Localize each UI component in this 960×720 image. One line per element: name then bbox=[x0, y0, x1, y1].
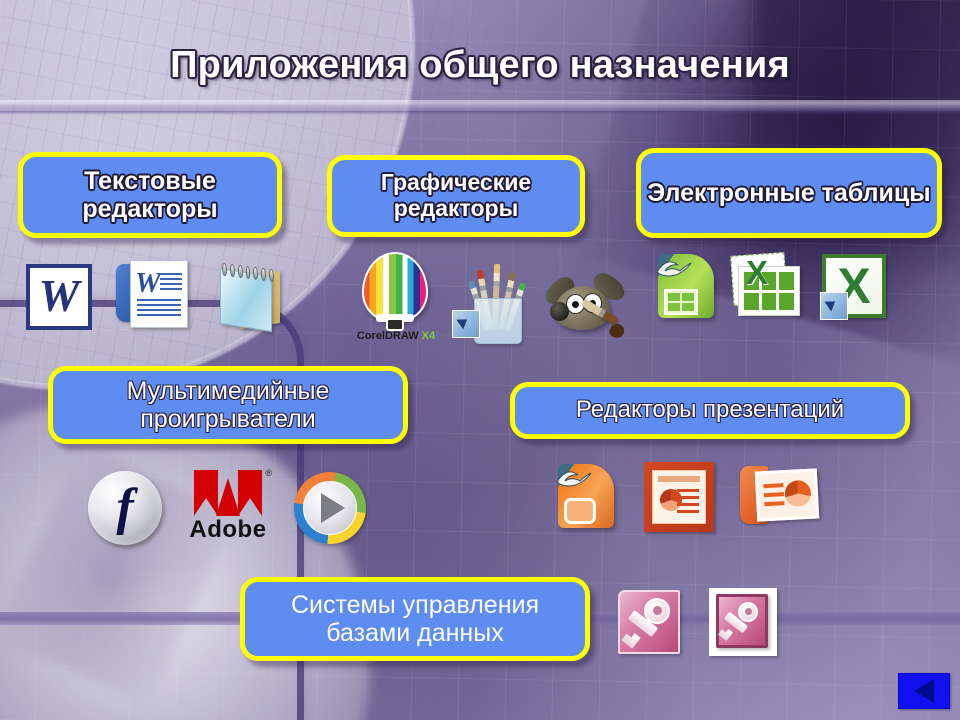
wilber-nose bbox=[550, 302, 569, 321]
shortcut-arrow-overlay-icon bbox=[820, 292, 848, 320]
divider-line-top bbox=[0, 100, 960, 111]
wilber-paintbrush-tip bbox=[607, 321, 626, 340]
flash-player-icon[interactable]: f bbox=[88, 471, 162, 545]
flash-letter-f: f bbox=[88, 471, 162, 549]
adobe-wordmark: Adobe bbox=[178, 516, 278, 544]
category-label-text: Текстовые редакторы bbox=[23, 167, 277, 223]
ppt-classic-title-bar bbox=[658, 476, 700, 482]
openoffice-calc-icon[interactable] bbox=[652, 252, 718, 322]
microsoft-word-2007-document-icon[interactable]: W bbox=[116, 258, 190, 330]
triangle-left-icon bbox=[914, 679, 934, 703]
category-label-text: Графические редакторы bbox=[332, 170, 580, 222]
excel-doc-x-letter: X bbox=[746, 256, 780, 290]
presentation-slide: Приложения общего назначения Текстовые р… bbox=[0, 0, 960, 720]
ppt-classic-bullets bbox=[677, 489, 699, 517]
word-doc-letter: W bbox=[135, 269, 161, 298]
microsoft-access-framed-key-icon[interactable] bbox=[708, 588, 780, 660]
icon-row-text-editors: W W bbox=[26, 258, 286, 330]
icon-row-media-players: f ® Adobe bbox=[88, 468, 366, 548]
access-key-hole bbox=[653, 606, 662, 615]
notepad-notebook-icon[interactable] bbox=[214, 268, 286, 330]
category-label-spreadsheets[interactable]: Электронные таблицы bbox=[636, 148, 942, 238]
coreldraw-caption: CorelDRAW X4 bbox=[348, 330, 444, 342]
word-doc-lines-top bbox=[160, 273, 182, 293]
microsoft-word-classic-icon[interactable]: W bbox=[26, 264, 92, 330]
shortcut-arrow-overlay-icon bbox=[452, 310, 480, 338]
ppt2007-bullets bbox=[763, 483, 784, 511]
word-doc-page: W bbox=[130, 260, 188, 328]
openoffice-impress-icon[interactable] bbox=[552, 462, 618, 532]
ms-paint-brushes-icon[interactable] bbox=[452, 262, 536, 344]
category-label-presentation-editors[interactable]: Редакторы презентаций bbox=[510, 382, 910, 439]
category-label-text-editors[interactable]: Текстовые редакторы bbox=[18, 152, 282, 238]
word-icon-letter: W bbox=[26, 264, 92, 330]
adobe-registered-mark: ® bbox=[265, 468, 272, 478]
openoffice-gull-icon bbox=[556, 468, 592, 488]
icon-row-dbms bbox=[614, 588, 780, 660]
microsoft-access-key-icon[interactable] bbox=[614, 588, 686, 660]
powerpoint-classic-icon[interactable] bbox=[644, 462, 714, 532]
openoffice-gull-icon bbox=[656, 258, 692, 278]
word-doc-lines-bottom bbox=[137, 299, 181, 319]
impress-slide-shape bbox=[564, 498, 596, 524]
category-label-graphics-editors[interactable]: Графические редакторы bbox=[327, 155, 585, 237]
access-key-hole bbox=[745, 608, 752, 615]
category-label-text: Системы управления базами данных bbox=[245, 591, 585, 647]
microsoft-excel-2007-icon[interactable]: X bbox=[820, 252, 890, 322]
divider-line-top-shadow bbox=[0, 111, 960, 115]
adobe-a-glyph bbox=[192, 468, 264, 518]
ppt2007-slide bbox=[755, 468, 820, 521]
category-label-media-players[interactable]: Мультимедийные проигрыватели bbox=[48, 366, 408, 444]
category-label-text: Мультимедийные проигрыватели bbox=[53, 377, 403, 433]
category-label-text: Редакторы презентаций bbox=[570, 397, 850, 424]
icon-row-graphics-editors: CorelDRAW X4 bbox=[348, 252, 624, 344]
windows-media-player-icon[interactable] bbox=[294, 472, 366, 544]
gimp-wilber-icon[interactable] bbox=[544, 274, 624, 344]
microsoft-powerpoint-2007-icon[interactable] bbox=[740, 462, 820, 532]
coreldraw-balloon-icon[interactable]: CorelDRAW X4 bbox=[348, 252, 444, 344]
coreldraw-balloon bbox=[362, 252, 428, 322]
icon-row-presentation-editors bbox=[552, 462, 820, 532]
back-navigation-button[interactable] bbox=[898, 673, 950, 709]
ppt-classic-slide bbox=[652, 470, 706, 524]
excel-document-icon[interactable]: X bbox=[730, 252, 808, 322]
calc-sheet-grid bbox=[664, 289, 698, 315]
icon-row-spreadsheets: X X bbox=[652, 252, 890, 322]
category-label-dbms[interactable]: Системы управления базами данных bbox=[240, 577, 590, 661]
paint-brush-cup bbox=[474, 298, 522, 344]
category-label-text: Электронные таблицы bbox=[641, 179, 936, 207]
adobe-logo-icon[interactable]: ® Adobe bbox=[178, 468, 278, 548]
play-triangle-icon bbox=[321, 493, 345, 523]
slide-title: Приложения общего назначения bbox=[0, 44, 960, 87]
